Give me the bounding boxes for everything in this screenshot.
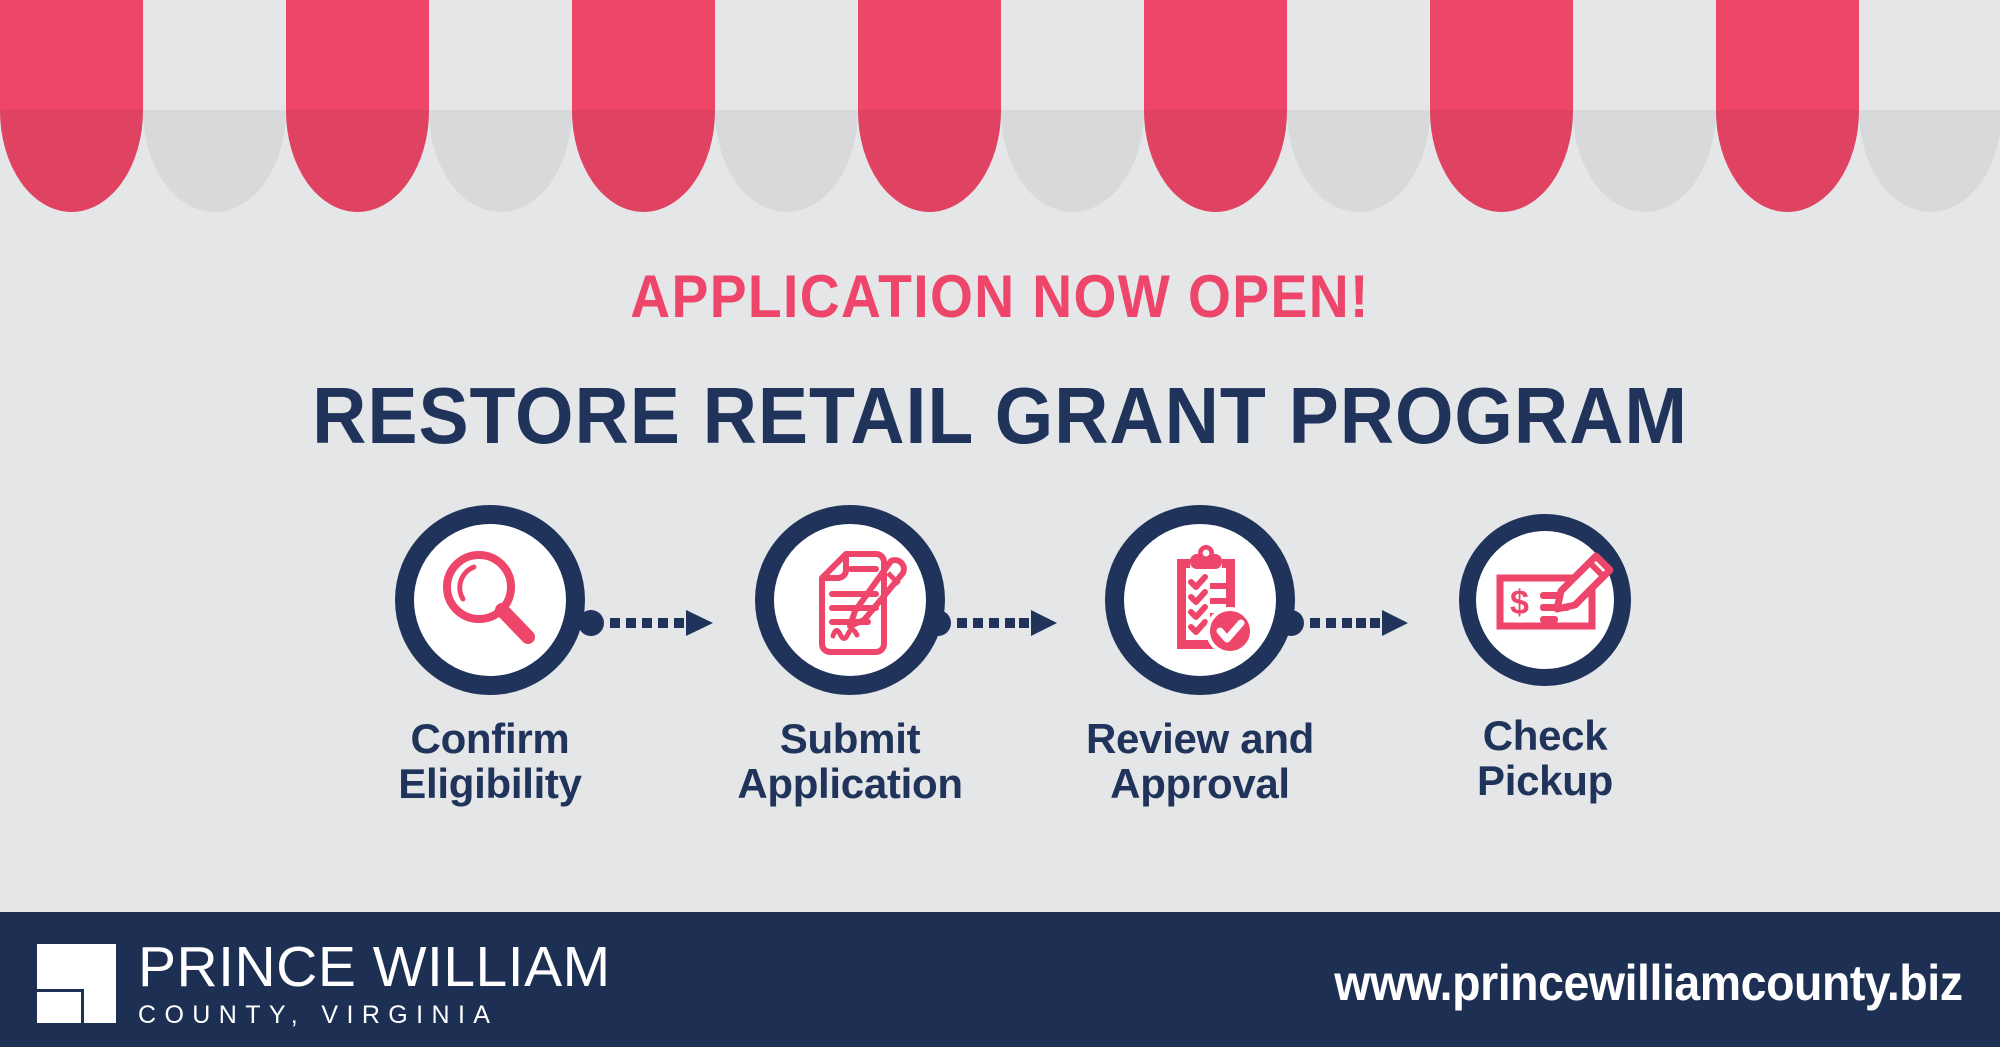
awning-stripe xyxy=(1144,0,1287,212)
connector-arrow-1 xyxy=(578,608,713,638)
magnifying-glass-icon xyxy=(430,540,550,660)
step-icon-circle xyxy=(1105,505,1295,695)
county-logo: PRINCE WILLIAM COUNTY, VIRGINIA xyxy=(37,940,611,1030)
step-icon-circle xyxy=(755,505,945,695)
step-check-pickup: $ Check Pickup xyxy=(1385,505,1705,804)
step-label: Check Pickup xyxy=(1385,714,1705,804)
step-label: Submit Application xyxy=(690,717,1010,807)
step-review-and-approval: Review and Approval xyxy=(1040,505,1360,807)
svg-text:$: $ xyxy=(1510,584,1529,622)
awning-graphic xyxy=(0,0,2000,212)
awning-stripe xyxy=(858,0,1001,212)
kicker-text: APPLICATION NOW OPEN! xyxy=(80,262,1920,331)
footer-bar: PRINCE WILLIAM COUNTY, VIRGINIA www.prin… xyxy=(0,912,2000,1047)
step-icon-circle: $ xyxy=(1459,514,1631,686)
awning-stripe xyxy=(0,0,143,212)
document-with-pen-icon xyxy=(788,538,912,662)
step-icon-circle xyxy=(395,505,585,695)
awning-stripe xyxy=(1430,0,1573,212)
step-label: Review and Approval xyxy=(1040,717,1360,807)
awning-stripe xyxy=(715,0,858,212)
connector-arrow-2 xyxy=(925,608,1057,638)
awning-stripe xyxy=(286,0,429,212)
county-logo-text: PRINCE WILLIAM COUNTY, VIRGINIA xyxy=(138,940,611,1030)
website-url[interactable]: www.princewilliamcounty.biz xyxy=(1334,954,1962,1012)
awning-stripe xyxy=(1859,0,2000,212)
connector-arrow-3 xyxy=(1278,608,1408,638)
awning-stripe xyxy=(1001,0,1144,212)
page-title: RESTORE RETAIL GRANT PROGRAM xyxy=(60,370,1940,462)
county-logo-secondary: COUNTY, VIRGINIA xyxy=(138,1001,611,1030)
awning-stripe xyxy=(1573,0,1716,212)
step-label: Confirm Eligibility xyxy=(330,717,650,807)
clipboard-checklist-approved-icon xyxy=(1141,541,1259,659)
awning-stripe xyxy=(1716,0,1859,212)
awning-stripe xyxy=(572,0,715,212)
step-submit-application: Submit Application xyxy=(690,505,1010,807)
county-logo-primary: PRINCE WILLIAM xyxy=(138,940,611,994)
process-steps: Confirm Eligibility xyxy=(300,505,1700,895)
check-payment-icon: $ xyxy=(1474,542,1616,658)
county-logo-mark-icon xyxy=(37,944,116,1023)
step-confirm-eligibility: Confirm Eligibility xyxy=(330,505,650,807)
awning-stripe xyxy=(143,0,286,212)
awning-stripe xyxy=(429,0,572,212)
awning-stripe xyxy=(1287,0,1430,212)
poster: APPLICATION NOW OPEN! RESTORE RETAIL GRA… xyxy=(0,0,2000,1047)
